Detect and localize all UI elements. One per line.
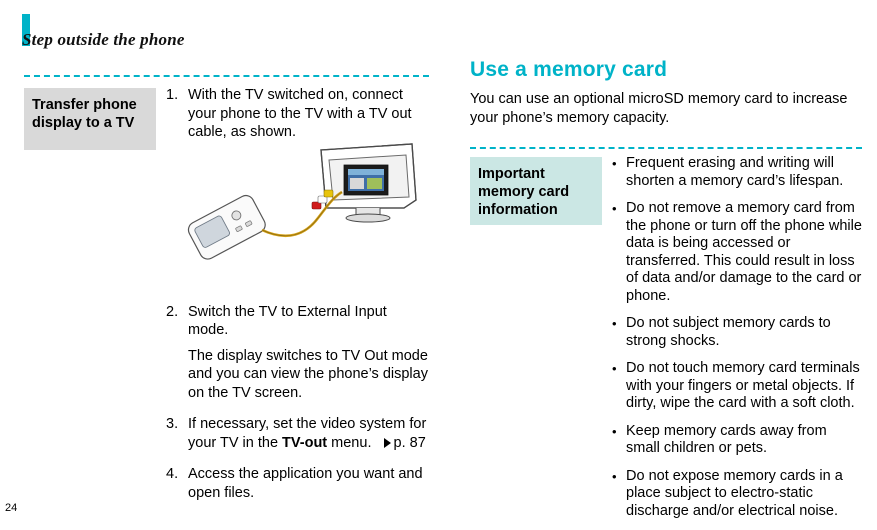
step-number: 3.: [166, 415, 188, 452]
step-number: 2.: [166, 303, 188, 340]
page-title: Step outside the phone: [22, 30, 185, 50]
step-2-note: The display switches to TV Out mode and …: [188, 347, 430, 403]
list-item: • Do not touch memory card terminals wit…: [612, 360, 862, 413]
tv-illustration: [321, 144, 416, 222]
list-item-text: Do not subject memory cards to strong sh…: [626, 315, 862, 350]
step-item-4: 4. Access the application you want and o…: [166, 465, 430, 502]
left-column-divider: [24, 75, 429, 77]
list-item: • Do not expose memory cards in a place …: [612, 468, 862, 521]
list-item: • Do not remove a memory card from the p…: [612, 200, 862, 305]
memory-card-bullet-list: • Frequent erasing and writing will shor…: [612, 155, 862, 530]
phone-to-tv-connection-diagram: [166, 138, 430, 268]
callout-transfer-phone-display: Transfer phone display to a TV: [24, 88, 156, 150]
bullet-marker-icon: •: [612, 200, 626, 305]
list-item: • Keep memory cards away from small chil…: [612, 423, 862, 458]
step-item-3: 3. If necessary, set the video system fo…: [166, 415, 430, 452]
list-item-text: Do not expose memory cards in a place su…: [626, 468, 862, 521]
mobile-phone-illustration: [186, 193, 268, 262]
cross-reference-text: p. 87: [394, 435, 426, 451]
list-item-text: Do not remove a memory card from the pho…: [626, 200, 862, 305]
callout-important-memory-card-information: Important memory card information: [470, 157, 602, 225]
page-number: 24: [5, 502, 17, 514]
section-intro-text: You can use an optional microSD memory c…: [470, 90, 862, 127]
section-heading-memory-card: Use a memory card: [470, 58, 667, 82]
bullet-marker-icon: •: [612, 468, 626, 521]
menu-name-tv-out: TV-out: [282, 435, 327, 451]
step-number: 1.: [166, 86, 188, 142]
cross-reference: p. 87: [371, 435, 425, 451]
list-item-text: Keep memory cards away from small childr…: [626, 423, 862, 458]
list-item-text: Do not touch memory card terminals with …: [626, 360, 862, 413]
step-text: Switch the TV to External Input mode.: [188, 303, 430, 340]
step-text: If necessary, set the video system for y…: [188, 415, 430, 452]
bullet-marker-icon: •: [612, 315, 626, 350]
bullet-marker-icon: •: [612, 155, 626, 190]
step-item-1: 1. With the TV switched on, connect your…: [166, 86, 430, 142]
step-item-2: 2. Switch the TV to External Input mode.: [166, 303, 430, 340]
list-item: • Frequent erasing and writing will shor…: [612, 155, 862, 190]
list-item: • Do not subject memory cards to strong …: [612, 315, 862, 350]
triangle-right-icon: [384, 438, 391, 448]
step-text: Access the application you want and open…: [188, 465, 430, 502]
list-item-text: Frequent erasing and writing will shorte…: [626, 155, 862, 190]
step-text: With the TV switched on, connect your ph…: [188, 86, 430, 142]
document-page: Step outside the phone 24 Transfer phone…: [0, 0, 877, 520]
step-3-tail: menu.: [327, 435, 371, 451]
bullet-marker-icon: •: [612, 423, 626, 458]
bullet-marker-icon: •: [612, 360, 626, 413]
step-number: 4.: [166, 465, 188, 502]
right-column-divider: [470, 147, 862, 149]
